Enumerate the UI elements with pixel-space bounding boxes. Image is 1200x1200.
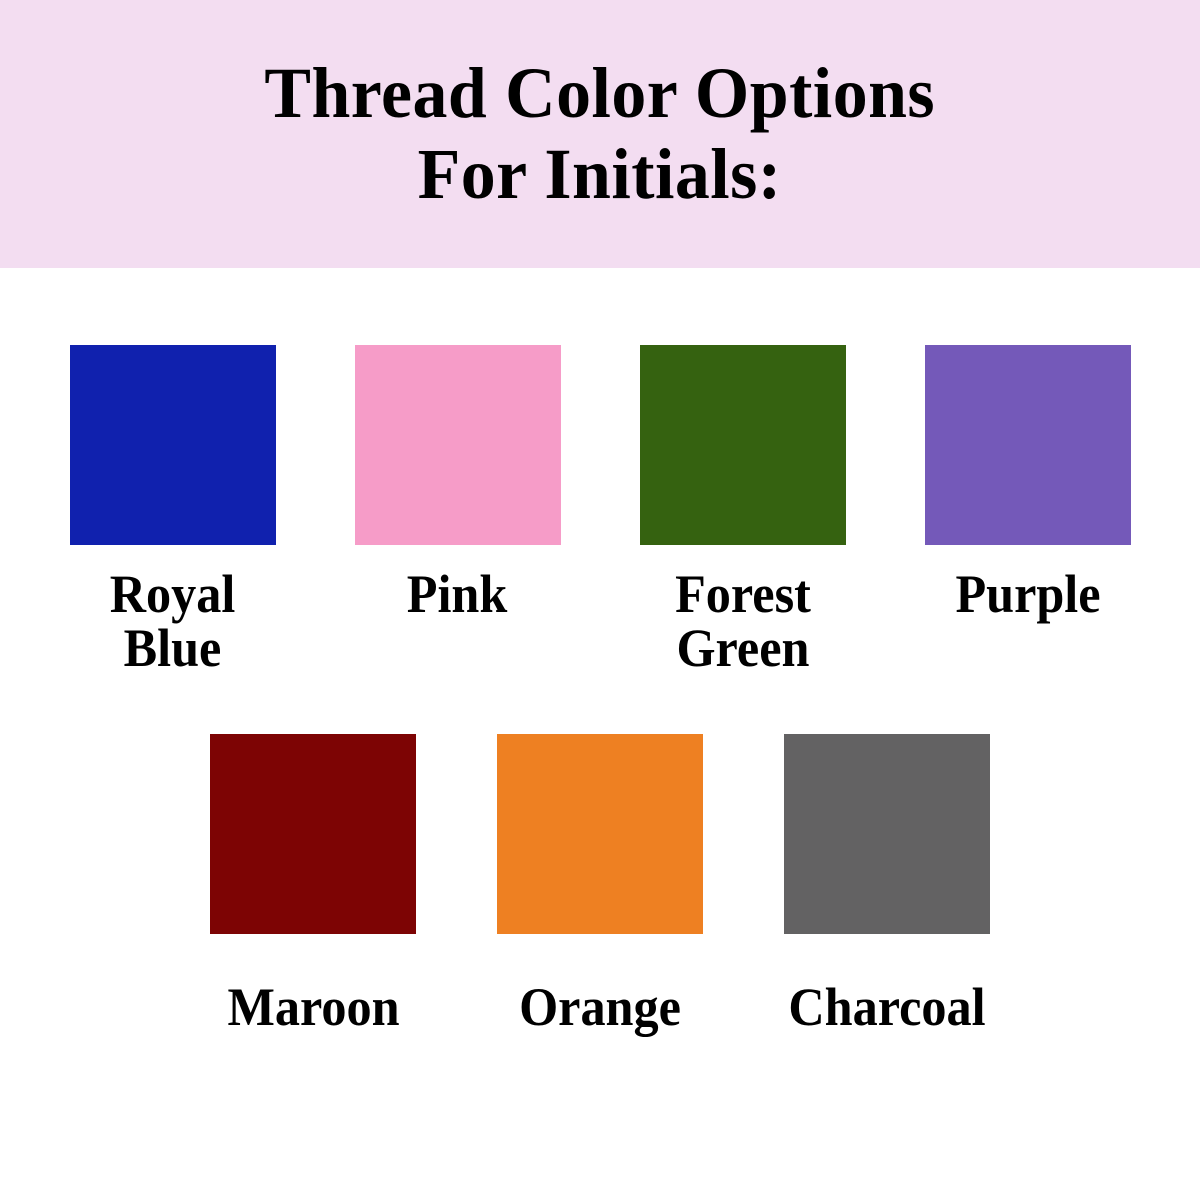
color-option-charcoal[interactable]: Charcoal [744,734,1031,1034]
swatch-row-2: Maroon Orange Charcoal [0,734,1200,1034]
color-chip-purple[interactable] [925,345,1131,545]
color-option-forest-green[interactable]: Forest Green [600,345,885,675]
color-chip-pink[interactable] [355,345,561,545]
color-label-royal-blue: Royal Blue [110,567,236,675]
color-chip-royal-blue[interactable] [70,345,276,545]
page-title-line-1: Thread Color Options [265,58,936,129]
color-swatch-grid: Royal Blue Pink Forest Green Purple Maro… [0,268,1200,1200]
color-chip-orange[interactable] [497,734,703,934]
header-banner: Thread Color Options For Initials: [0,0,1200,268]
color-option-orange[interactable]: Orange [457,734,744,1034]
color-chip-charcoal[interactable] [784,734,990,934]
color-label-orange: Orange [519,980,681,1034]
page-title-line-2: For Initials: [418,139,782,210]
color-option-purple[interactable]: Purple [885,345,1170,675]
color-chip-maroon[interactable] [210,734,416,934]
color-chip-forest-green[interactable] [640,345,846,545]
color-label-purple: Purple [955,567,1100,621]
color-option-royal-blue[interactable]: Royal Blue [30,345,315,675]
color-option-pink[interactable]: Pink [315,345,600,675]
color-label-forest-green: Forest Green [675,567,811,675]
color-label-maroon: Maroon [227,980,399,1034]
swatch-row-1: Royal Blue Pink Forest Green Purple [0,345,1200,675]
color-option-maroon[interactable]: Maroon [170,734,457,1034]
color-label-charcoal: Charcoal [788,980,985,1034]
color-label-pink: Pink [407,567,507,621]
